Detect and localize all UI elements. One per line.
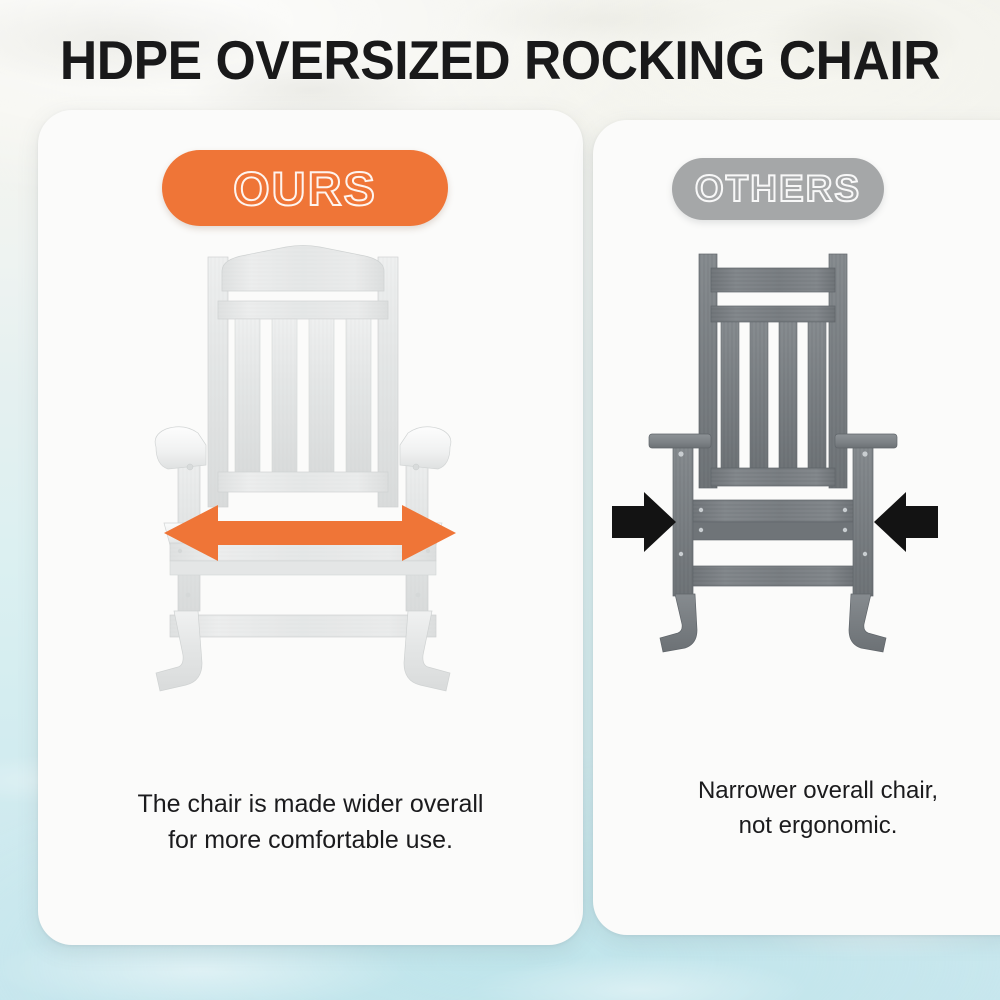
caption-ours-line2: for more comfortable use.: [38, 822, 583, 858]
caption-ours: The chair is made wider overall for more…: [38, 786, 583, 859]
badge-others: OTHERS: [672, 158, 884, 220]
caption-ours-line1: The chair is made wider overall: [38, 786, 583, 822]
page-title: HDPE OVERSIZED ROCKING CHAIR: [30, 28, 970, 92]
chair-image-ours: [150, 243, 470, 713]
caption-others-line2: not ergonomic.: [593, 809, 1000, 844]
caption-others-line1: Narrower overall chair,: [593, 774, 1000, 809]
badge-ours: OURS: [162, 150, 448, 226]
caption-others: Narrower overall chair, not ergonomic.: [593, 774, 1000, 844]
chair-image-others: [623, 248, 923, 668]
